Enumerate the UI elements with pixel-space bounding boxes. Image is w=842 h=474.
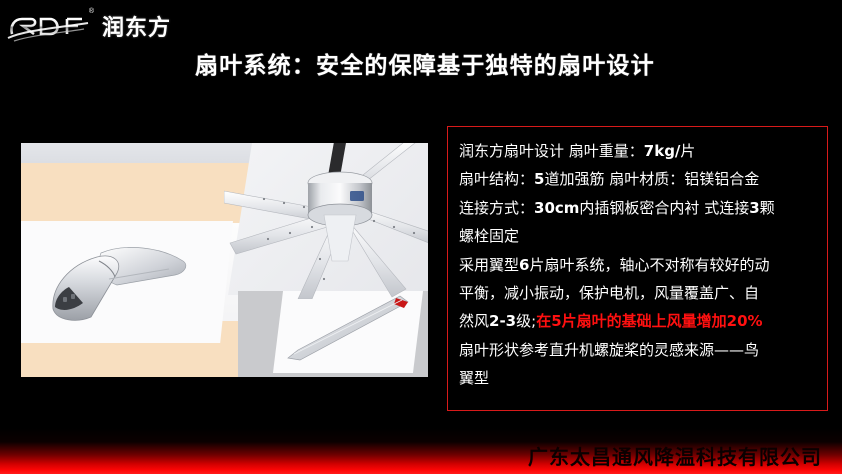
- brand-logo: ® 润东方: [4, 6, 184, 46]
- spec-line: 采用翼型6片扇叶系统，轴心不对称有较好的动: [459, 251, 821, 279]
- company-name: 广东太昌通风降温科技有限公司: [528, 441, 822, 470]
- brand-name-cn: 润东方: [102, 10, 171, 42]
- blade-side-view-icon: [284, 292, 414, 369]
- spec-line-highlight: 然风2-3级;在5片扇叶的基础上风量增加20%: [459, 307, 821, 335]
- spec-line: 平衡，减小振动，保护电机，风量覆盖广、自: [459, 279, 821, 307]
- spec-line: 翼型: [459, 364, 821, 392]
- spec-text-panel: 润东方扇叶设计 扇叶重量：7kg/片 扇叶结构：5道加强筋 扇叶材质：铝镁铝合金…: [447, 126, 828, 411]
- spec-line: 连接方式：30cm内插钢板密合内衬 式连接3颗: [459, 194, 821, 222]
- registered-trademark-icon: ®: [89, 8, 94, 15]
- spec-line: 扇叶结构：5道加强筋 扇叶材质：铝镁铝合金: [459, 165, 821, 193]
- blade-cross-section-icon: [43, 239, 213, 334]
- slide-root: ® 润东方 扇叶系统：安全的保障基于独特的扇叶设计: [0, 0, 842, 474]
- rdf-swoosh-logo-icon: ®: [4, 8, 96, 44]
- page-title: 扇叶系统：安全的保障基于独特的扇叶设计: [195, 46, 815, 80]
- fan-hub-icon: [224, 143, 428, 304]
- spec-line: 螺栓固定: [459, 222, 821, 250]
- spec-line: 扇叶形状参考直升机螺旋桨的灵感来源——鸟: [459, 336, 821, 364]
- spec-line: 润东方扇叶设计 扇叶重量：7kg/片: [459, 137, 821, 165]
- product-photo: [21, 143, 428, 377]
- footer-banner: 广东太昌通风降温科技有限公司: [0, 428, 842, 474]
